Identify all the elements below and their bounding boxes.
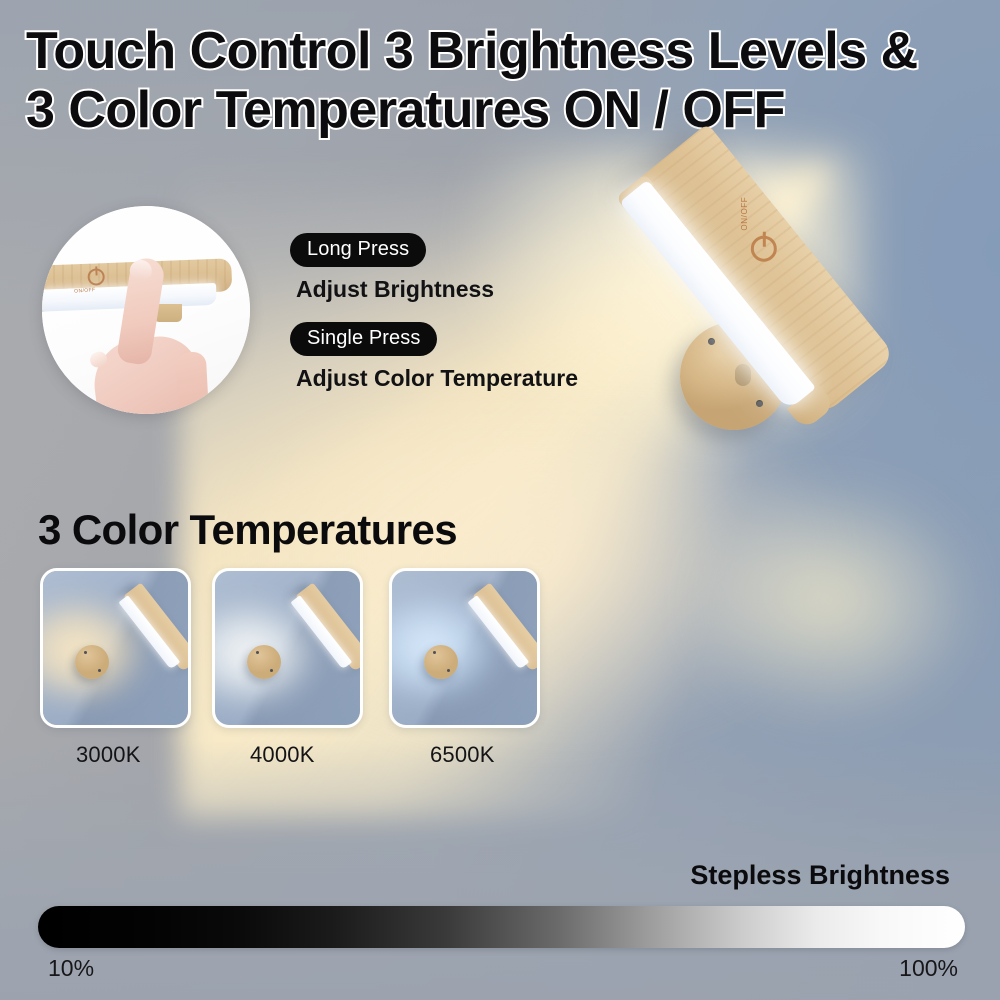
screw-icon [756,400,763,407]
touch-demo-inset: ON/OFF [42,206,250,414]
callout-badge: Single Press [290,322,437,356]
temperature-card [40,568,191,728]
callout-long-press: Long Press Adjust Brightness [290,233,578,303]
hand-knuckles [176,351,211,414]
section-title: 3 Color Temperatures [38,506,457,554]
brightness-title: Stepless Brightness [690,860,950,891]
press-callouts: Long Press Adjust Brightness Single Pres… [290,233,578,392]
temperature-label: 6500K [430,742,495,768]
hero-product-photo: ON/OFF [640,150,1000,550]
callout-single-press: Single Press Adjust Color Temperature [290,322,578,392]
temperature-card [389,568,540,728]
brightness-min-label: 10% [48,955,94,982]
callout-badge: Long Press [290,233,426,267]
page-title: Touch Control 3 Brightness Levels & 3 Co… [26,22,976,140]
screw-icon [708,338,715,345]
color-temperature-cards [40,568,560,728]
card-lamp-mount [247,645,281,679]
brightness-max-label: 100% [899,955,958,982]
power-label: ON/OFF [740,197,749,231]
hand-illustration [84,266,214,414]
callout-description: Adjust Color Temperature [296,365,578,392]
mount-slot [735,364,751,386]
power-icon [751,236,777,262]
temperature-card [212,568,363,728]
temperature-label: 3000K [76,742,141,768]
temperature-label: 4000K [250,742,315,768]
card-lamp-mount [75,645,109,679]
color-temperature-labels: 3000K 4000K 6500K [40,742,600,772]
infographic-canvas: Touch Control 3 Brightness Levels & 3 Co… [0,0,1000,1000]
callout-description: Adjust Brightness [296,276,578,303]
card-lamp-mount [424,645,458,679]
brightness-gradient-bar [38,906,965,948]
